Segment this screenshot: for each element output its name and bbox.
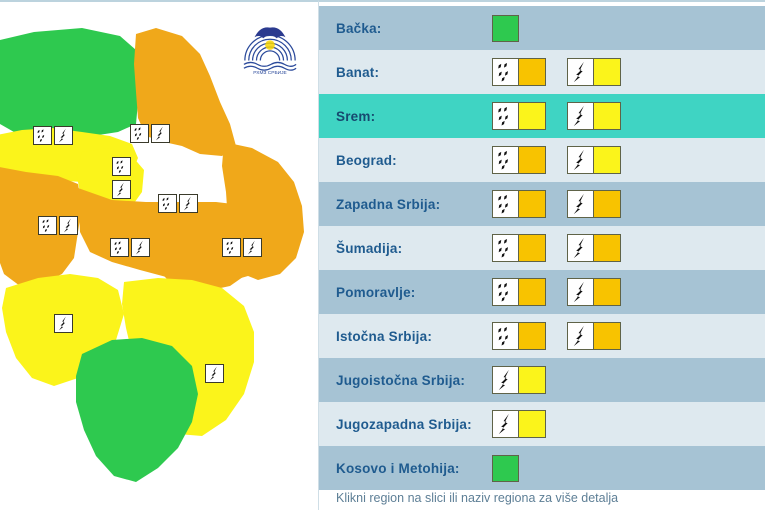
warning-badges xyxy=(492,102,621,130)
rain-drops-icon xyxy=(130,124,149,143)
warning-badges xyxy=(492,410,546,438)
weather-warning-page: РХМЗ СРБИЈЕ Bačka:Banat:Srem:Beograd:Zap… xyxy=(0,0,765,510)
region-name-label[interactable]: Banat: xyxy=(336,65,476,80)
map-region-kosovo-i-metohija[interactable] xyxy=(76,338,198,482)
region-row-jugozapadna-srbija[interactable]: Jugozapadna Srbija: xyxy=(319,402,765,446)
lightning-bolt-icon xyxy=(55,315,72,332)
warning-badge xyxy=(567,322,621,350)
warning-badge xyxy=(492,234,546,262)
warning-level-swatch-orange xyxy=(519,147,545,173)
serbia-map-shapes[interactable] xyxy=(0,6,316,506)
warning-badge xyxy=(492,58,546,86)
region-name-label[interactable]: Istočna Srbija: xyxy=(336,329,476,344)
region-row-srem[interactable]: Srem: xyxy=(319,94,765,138)
rain-drops-icon xyxy=(113,158,130,175)
region-name-label[interactable]: Kosovo i Metohija: xyxy=(336,461,476,476)
warning-badges xyxy=(492,366,546,394)
rain-drops-icon xyxy=(493,59,519,85)
warning-level-swatch-orange xyxy=(594,235,620,261)
map-region-backa[interactable] xyxy=(0,28,138,138)
warning-badges xyxy=(492,15,519,42)
region-row-beograd[interactable]: Beograd: xyxy=(319,138,765,182)
region-name-label[interactable]: Šumadija: xyxy=(336,241,476,256)
region-name-label[interactable]: Bačka: xyxy=(336,21,476,36)
warning-level-swatch-orange xyxy=(519,279,545,305)
rain-drops-icon xyxy=(493,147,519,173)
lightning-bolt-icon xyxy=(568,279,594,305)
lightning-bolt-icon xyxy=(60,217,77,234)
rain-drops-icon xyxy=(34,127,51,144)
region-warning-list[interactable]: Bačka:Banat:Srem:Beograd:Zapadna Srbija:… xyxy=(318,0,765,510)
lightning-bolt-icon xyxy=(206,365,223,382)
rain-drops-icon xyxy=(223,239,240,256)
warning-level-swatch-green xyxy=(492,455,519,482)
warning-badge xyxy=(492,410,546,438)
warning-badges xyxy=(492,146,621,174)
region-row-istočna-srbija[interactable]: Istočna Srbija: xyxy=(319,314,765,358)
warning-badge xyxy=(567,190,621,218)
lightning-bolt-icon xyxy=(243,238,262,257)
rain-drops-icon xyxy=(38,216,57,235)
footnote-text: Klikni region na slici ili naziv regiona… xyxy=(336,491,618,505)
warning-level-swatch-yellow xyxy=(519,367,545,393)
warning-badge xyxy=(492,366,546,394)
warning-badge xyxy=(567,278,621,306)
warning-badges xyxy=(492,455,519,482)
lightning-bolt-icon xyxy=(568,59,593,85)
warning-badge xyxy=(492,322,546,350)
warning-level-swatch-yellow xyxy=(519,411,545,437)
lightning-bolt-icon xyxy=(151,124,170,143)
lightning-bolt-icon xyxy=(568,147,593,173)
region-row-zapadna-srbija[interactable]: Zapadna Srbija: xyxy=(319,182,765,226)
warning-level-swatch-orange xyxy=(594,279,620,305)
lightning-bolt-icon xyxy=(568,191,594,217)
region-row-kosovo-i-metohija[interactable]: Kosovo i Metohija: xyxy=(319,446,765,490)
rain-drops-icon xyxy=(110,238,129,257)
map-warning-icons-pomoravlje xyxy=(222,238,262,257)
warning-badges xyxy=(492,190,621,218)
lightning-bolt-icon xyxy=(568,323,593,349)
region-row-jugoistočna-srbija[interactable]: Jugoistočna Srbija: xyxy=(319,358,765,402)
warning-level-swatch-orange xyxy=(519,323,545,349)
lightning-bolt-icon xyxy=(568,191,593,217)
rain-drops-icon xyxy=(159,195,176,212)
lightning-bolt-icon xyxy=(568,147,594,173)
warning-badge xyxy=(567,58,621,86)
warning-level-swatch-yellow xyxy=(594,147,620,173)
svg-text:РХМЗ СРБИЈЕ: РХМЗ СРБИЈЕ xyxy=(253,70,287,76)
rain-drops-icon xyxy=(39,217,56,234)
rain-drops-icon xyxy=(493,279,519,305)
region-row-banat[interactable]: Banat: xyxy=(319,50,765,94)
rain-drops-icon xyxy=(112,157,131,176)
warning-badge xyxy=(567,234,621,262)
region-row-šumadija[interactable]: Šumadija: xyxy=(319,226,765,270)
warning-badges xyxy=(492,234,621,262)
lightning-bolt-icon xyxy=(180,195,197,212)
region-name-label[interactable]: Jugozapadna Srbija: xyxy=(336,417,476,432)
rain-drops-icon xyxy=(493,191,518,217)
warning-badge xyxy=(492,102,546,130)
warning-level-swatch-yellow xyxy=(594,59,620,85)
map-warning-icons-sumadija xyxy=(110,238,150,257)
warning-level-swatch-green xyxy=(492,15,519,42)
lightning-bolt-icon xyxy=(54,314,73,333)
rain-drops-icon xyxy=(131,125,148,142)
rain-drops-icon xyxy=(493,279,518,305)
lightning-bolt-icon xyxy=(54,126,73,145)
lightning-bolt-icon xyxy=(244,239,261,256)
warning-level-swatch-yellow xyxy=(594,103,620,129)
rain-drops-icon xyxy=(493,59,518,85)
warning-badge xyxy=(567,102,621,130)
map-warning-icons-zapadna-srbija xyxy=(38,216,78,235)
rain-drops-icon xyxy=(493,103,519,129)
lightning-bolt-icon xyxy=(493,367,519,393)
region-name-label[interactable]: Jugoistočna Srbija: xyxy=(336,373,476,388)
lightning-bolt-icon xyxy=(179,194,198,213)
warning-badge xyxy=(492,278,546,306)
serbia-warning-map[interactable]: РХМЗ СРБИЈЕ xyxy=(0,0,318,510)
warning-badge xyxy=(492,146,546,174)
region-name-label[interactable]: Zapadna Srbija: xyxy=(336,197,476,212)
lightning-bolt-icon xyxy=(131,238,150,257)
lightning-bolt-icon xyxy=(568,59,594,85)
lightning-bolt-icon xyxy=(113,181,130,198)
region-row-pomoravlje[interactable]: Pomoravlje: xyxy=(319,270,765,314)
map-warning-icons-srem xyxy=(33,126,73,145)
rain-drops-icon xyxy=(493,191,519,217)
region-name-label[interactable]: Pomoravlje: xyxy=(336,285,476,300)
lightning-bolt-icon xyxy=(568,235,594,261)
rain-drops-icon xyxy=(493,323,518,349)
warning-badge xyxy=(492,190,546,218)
lightning-bolt-icon xyxy=(55,127,72,144)
rain-drops-icon xyxy=(493,103,518,129)
map-warning-icons-istocna-srbija xyxy=(158,194,198,213)
lightning-bolt-icon xyxy=(493,367,518,393)
warning-badge xyxy=(567,146,621,174)
lightning-bolt-icon xyxy=(568,235,593,261)
lightning-bolt-icon xyxy=(568,103,593,129)
rain-drops-icon xyxy=(493,323,519,349)
lightning-bolt-icon xyxy=(152,125,169,142)
warning-badges xyxy=(492,322,621,350)
lightning-bolt-icon xyxy=(205,364,224,383)
lightning-bolt-icon xyxy=(59,216,78,235)
warning-level-swatch-orange xyxy=(594,191,620,217)
map-warning-icons-jugozapadna xyxy=(54,314,73,333)
rhmz-serbia-logo: РХМЗ СРБИЈЕ xyxy=(241,16,299,76)
rain-drops-icon xyxy=(222,238,241,257)
lightning-bolt-icon xyxy=(568,103,594,129)
rain-drops-icon xyxy=(158,194,177,213)
region-name-label[interactable]: Beograd: xyxy=(336,153,476,168)
warning-level-swatch-orange xyxy=(519,191,545,217)
region-rows: Bačka:Banat:Srem:Beograd:Zapadna Srbija:… xyxy=(319,6,765,490)
rain-drops-icon xyxy=(33,126,52,145)
lightning-bolt-icon xyxy=(493,411,519,437)
rain-drops-icon xyxy=(111,239,128,256)
lightning-bolt-icon xyxy=(132,239,149,256)
lightning-bolt-icon xyxy=(112,180,131,199)
rain-drops-icon xyxy=(493,235,519,261)
lightning-bolt-icon xyxy=(493,411,518,437)
warning-level-swatch-orange xyxy=(519,235,545,261)
warning-level-swatch-orange xyxy=(519,59,545,85)
map-warning-icons-banat xyxy=(130,124,170,143)
warning-badges xyxy=(492,278,621,306)
lightning-bolt-icon xyxy=(568,323,594,349)
region-row-bačka[interactable]: Bačka: xyxy=(319,6,765,50)
rain-drops-icon xyxy=(493,147,518,173)
region-name-label[interactable]: Srem: xyxy=(336,109,476,124)
warning-level-swatch-orange xyxy=(594,323,620,349)
warning-badges xyxy=(492,58,621,86)
rain-drops-icon xyxy=(493,235,518,261)
warning-level-swatch-yellow xyxy=(519,103,545,129)
map-warning-icons-beograd-rain xyxy=(112,157,131,176)
map-warning-icons-beograd-storm xyxy=(112,180,131,199)
lightning-bolt-icon xyxy=(568,279,593,305)
map-warning-icons-jugoistocna xyxy=(205,364,224,383)
